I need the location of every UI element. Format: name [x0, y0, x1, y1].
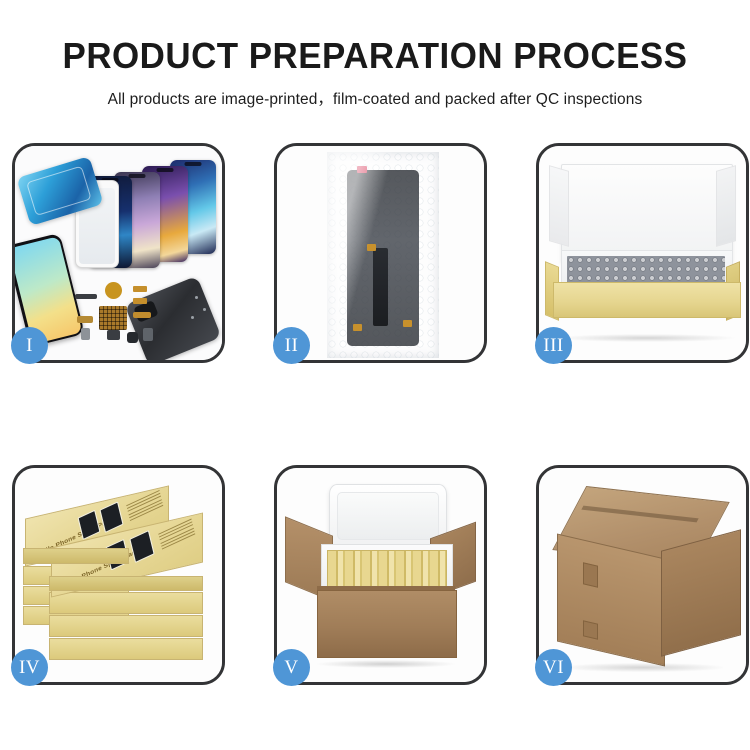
page-header: PRODUCT PREPARATION PROCESS All products…: [0, 0, 750, 109]
box-lid-icon: [561, 164, 733, 262]
panel-6-image: [539, 468, 746, 682]
screw-2-icon: [203, 308, 206, 311]
process-panel-6[interactable]: VI: [536, 465, 749, 685]
stack-side-shade-2-icon: [49, 576, 203, 591]
box-screen-image-1-icon: [78, 510, 101, 540]
component-connector-icon: [77, 316, 93, 323]
panel-2-badge: II: [273, 327, 310, 364]
sealed-carton-shadow-icon: [563, 663, 723, 672]
stacked-box-f1-icon: [49, 592, 203, 614]
page-title: PRODUCT PREPARATION PROCESS: [11, 38, 739, 74]
component-battery-icon: [143, 328, 153, 341]
panel-5-badge: V: [273, 649, 310, 686]
component-speaker-icon: [127, 332, 138, 343]
box-screen-image-2-icon: [99, 501, 123, 533]
wrap-highlight-icon: [327, 152, 439, 358]
process-panel-1[interactable]: I: [12, 143, 225, 363]
component-flex-cable-2-icon: [133, 298, 147, 304]
process-panel-4[interactable]: Mobile Phone Spare Parts Mobile Phone Sp…: [12, 465, 225, 685]
process-panel-grid: I II III: [12, 143, 738, 688]
packed-boxes-icon: [327, 550, 447, 590]
box-spec-lines-2: [158, 519, 195, 552]
component-coil-icon: [105, 282, 122, 299]
process-panel-5[interactable]: V: [274, 465, 487, 685]
component-sim-tray-icon: [81, 328, 90, 340]
box-front-panel-icon: [553, 282, 741, 318]
component-chip-array-icon: [99, 306, 127, 330]
panel-5-image: [277, 468, 484, 682]
carton-shadow-icon: [317, 660, 455, 668]
page-subtitle: All products are image-printed，film-coat…: [0, 87, 750, 109]
component-bracket-icon: [75, 294, 97, 299]
carton-body-icon: [317, 590, 457, 658]
stacked-box-f3-icon: [49, 638, 203, 660]
box-shadow-icon: [559, 334, 735, 342]
component-ribbon-icon: [133, 312, 151, 318]
panel-1-badge: I: [11, 327, 48, 364]
panel-4-badge: IV: [11, 649, 48, 686]
panel-3-image: [539, 146, 746, 360]
carton-handle-tab-2-icon: [583, 620, 598, 639]
box-lid-flap-left-icon: [549, 165, 569, 247]
stack-side-shade-icon: [23, 548, 129, 564]
component-flex-cable-icon: [133, 286, 147, 292]
box-lid-flap-right-icon: [716, 165, 736, 247]
screw-3-icon: [191, 316, 194, 319]
component-camera-icon: [107, 330, 120, 340]
bubble-wrap-icon: [327, 152, 439, 358]
box-screen-image-4-icon: [129, 530, 154, 563]
carton-handle-tab-icon: [583, 562, 598, 587]
process-panel-2[interactable]: II: [274, 143, 487, 363]
panel-2-image: [277, 146, 484, 360]
panel-3-badge: III: [535, 327, 572, 364]
process-panel-3[interactable]: III: [536, 143, 749, 363]
screw-1-icon: [195, 296, 198, 299]
box-spec-lines-1: [126, 490, 163, 523]
panel-6-badge: VI: [535, 649, 572, 686]
panel-1-image: [15, 146, 222, 360]
stacked-box-f2-icon: [49, 615, 203, 637]
sealed-carton-side-icon: [661, 529, 741, 656]
panel-4-image: Mobile Phone Spare Parts Mobile Phone Sp…: [15, 468, 222, 682]
